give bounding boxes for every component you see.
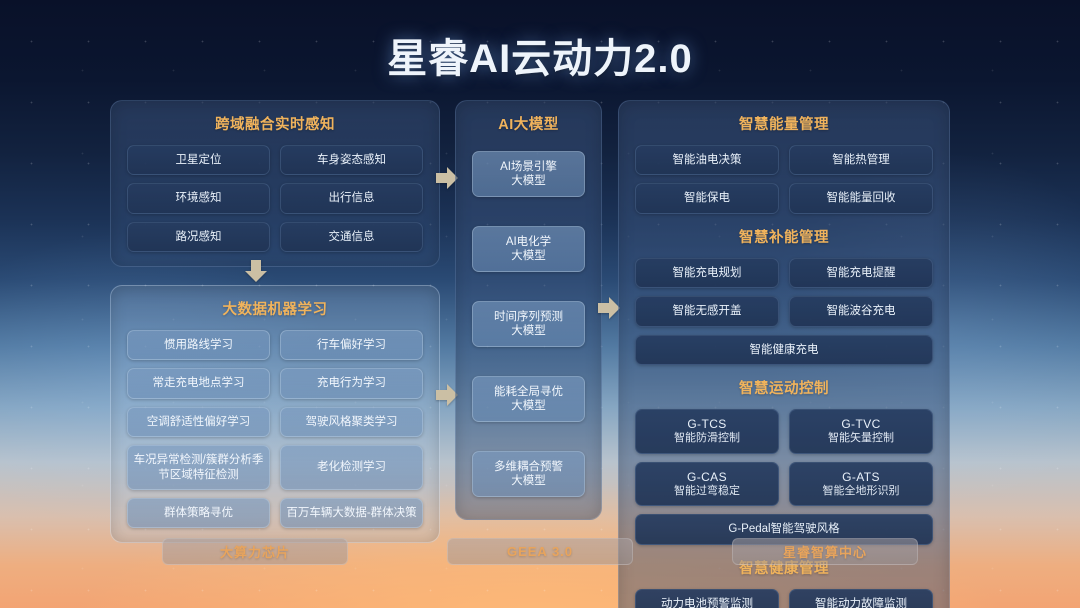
bigdata-item[interactable]: 老化检测学习 <box>280 445 423 490</box>
applications-item-label: 智能矢量控制 <box>828 432 894 446</box>
panel-applications: 智慧能量管理智能油电决策智能热管理智能保电智能能量回收智慧补能管理智能充电规划智… <box>618 100 950 608</box>
panel-perception: 跨域融合实时感知 卫星定位车身姿态感知环境感知出行信息路况感知交通信息 <box>110 100 440 267</box>
ai-model-item[interactable]: AI电化学大模型 <box>472 226 585 272</box>
applications-item[interactable]: G-TVC智能矢量控制 <box>789 409 933 454</box>
page-title: 星睿AI云动力2.0 <box>0 26 1080 84</box>
foundation-chip[interactable]: 大算力芯片 <box>162 538 348 565</box>
chip-line: 大模型 <box>511 399 546 413</box>
chip-line: 时间序列预测 <box>494 310 563 324</box>
applications-group-grid: 动力电池预警监测智能动力故障监测智能能耗监测系统智能化洗养护 <box>635 589 933 608</box>
applications-group-grid: 智能充电规划智能充电提醒智能无感开盖智能波谷充电 <box>635 258 933 327</box>
applications-item-code: G-TCS <box>687 417 726 432</box>
applications-item[interactable]: G-ATS智能全地形识别 <box>789 462 933 507</box>
ai-model-item[interactable]: 能耗全局寻优大模型 <box>472 376 585 422</box>
applications-item[interactable]: 智能波谷充电 <box>789 296 933 326</box>
applications-item[interactable]: 智能热管理 <box>789 145 933 175</box>
applications-item-full[interactable]: 智能健康充电 <box>635 335 933 365</box>
applications-item[interactable]: 智能保电 <box>635 183 779 213</box>
perception-item[interactable]: 出行信息 <box>280 183 423 213</box>
applications-item[interactable]: G-TCS智能防滑控制 <box>635 409 779 454</box>
applications-item[interactable]: 智能充电提醒 <box>789 258 933 288</box>
perception-item-grid: 卫星定位车身姿态感知环境感知出行信息路况感知交通信息 <box>127 145 423 252</box>
applications-item-code: G-ATS <box>842 470 880 485</box>
chip-line: AI场景引擎 <box>500 160 557 174</box>
applications-card: 智慧能量管理智能油电决策智能热管理智能保电智能能量回收智慧补能管理智能充电规划智… <box>618 100 950 608</box>
chip-line: 大模型 <box>511 324 546 338</box>
applications-item[interactable]: 智能无感开盖 <box>635 296 779 326</box>
applications-item[interactable]: 智能油电决策 <box>635 145 779 175</box>
chip-line: 大模型 <box>511 249 546 263</box>
panel-ai-models: AI大模型 AI场景引擎大模型AI电化学大模型时间序列预测大模型能耗全局寻优大模… <box>455 100 602 520</box>
ai-model-item[interactable]: AI场景引擎大模型 <box>472 151 585 197</box>
bigdata-item[interactable]: 行车偏好学习 <box>280 330 423 360</box>
applications-item-label: 智能防滑控制 <box>674 432 740 446</box>
perception-card: 跨域融合实时感知 卫星定位车身姿态感知环境感知出行信息路况感知交通信息 <box>110 100 440 267</box>
bigdata-item[interactable]: 驾驶风格聚类学习 <box>280 407 423 437</box>
chip-line: 大模型 <box>511 174 546 188</box>
perception-item[interactable]: 环境感知 <box>127 183 270 213</box>
bigdata-item[interactable]: 充电行为学习 <box>280 368 423 398</box>
applications-item[interactable]: G-CAS智能过弯稳定 <box>635 462 779 507</box>
applications-group-fullrow: 智能健康充电 <box>635 335 933 365</box>
ai-title: AI大模型 <box>472 113 585 134</box>
chip-line: 多维耦合预警 <box>494 460 563 474</box>
perception-item[interactable]: 卫星定位 <box>127 145 270 175</box>
perception-item[interactable]: 车身姿态感知 <box>280 145 423 175</box>
applications-item[interactable]: 智能动力故障监测 <box>789 589 933 608</box>
bigdata-item[interactable]: 群体策略寻优 <box>127 498 270 528</box>
chip-line: 大模型 <box>511 474 546 488</box>
foundation-compute-center[interactable]: 星睿智算中心 <box>732 538 918 565</box>
applications-item[interactable]: 智能能量回收 <box>789 183 933 213</box>
applications-item[interactable]: 智能充电规划 <box>635 258 779 288</box>
bigdata-item[interactable]: 车况异常检测/簇群分析季节区域特征检测 <box>127 445 270 490</box>
bigdata-title: 大数据机器学习 <box>127 298 423 319</box>
bigdata-item-grid: 惯用路线学习行车偏好学习常走充电地点学习充电行为学习空调舒适性偏好学习驾驶风格聚… <box>127 330 423 528</box>
bigdata-item[interactable]: 百万车辆大数据-群体决策 <box>280 498 423 528</box>
applications-item-label: 智能全地形识别 <box>823 485 900 499</box>
foundation-geea[interactable]: GEEA 3.0 <box>447 538 633 565</box>
applications-group-grid: G-TCS智能防滑控制G-TVC智能矢量控制G-CAS智能过弯稳定G-ATS智能… <box>635 409 933 507</box>
chip-line: AI电化学 <box>506 235 551 249</box>
applications-group-grid: 智能油电决策智能热管理智能保电智能能量回收 <box>635 145 933 214</box>
perception-item[interactable]: 路况感知 <box>127 222 270 252</box>
bigdata-item[interactable]: 常走充电地点学习 <box>127 368 270 398</box>
applications-item[interactable]: 动力电池预警监测 <box>635 589 779 608</box>
applications-item-label: 智能过弯稳定 <box>674 485 740 499</box>
bigdata-item[interactable]: 惯用路线学习 <box>127 330 270 360</box>
applications-group-title: 智慧能量管理 <box>635 113 933 134</box>
perception-title: 跨域融合实时感知 <box>127 113 423 134</box>
applications-item-code: G-TVC <box>841 417 880 432</box>
panel-bigdata: 大数据机器学习 惯用路线学习行车偏好学习常走充电地点学习充电行为学习空调舒适性偏… <box>110 285 440 543</box>
applications-group-title: 智慧运动控制 <box>635 377 933 398</box>
ai-card: AI大模型 AI场景引擎大模型AI电化学大模型时间序列预测大模型能耗全局寻优大模… <box>455 100 602 520</box>
slide-canvas: 星睿AI云动力2.0 跨域融合实时感知 卫星定位车身姿态感知环境感知出行信息路况… <box>0 0 1080 608</box>
ai-model-item[interactable]: 时间序列预测大模型 <box>472 301 585 347</box>
applications-group-title: 智慧补能管理 <box>635 226 933 247</box>
perception-item[interactable]: 交通信息 <box>280 222 423 252</box>
bigdata-card: 大数据机器学习 惯用路线学习行车偏好学习常走充电地点学习充电行为学习空调舒适性偏… <box>110 285 440 543</box>
ai-model-item[interactable]: 多维耦合预警大模型 <box>472 451 585 497</box>
ai-item-list: AI场景引擎大模型AI电化学大模型时间序列预测大模型能耗全局寻优大模型多维耦合预… <box>472 145 585 505</box>
chip-line: 能耗全局寻优 <box>494 385 563 399</box>
bigdata-item[interactable]: 空调舒适性偏好学习 <box>127 407 270 437</box>
applications-item-code: G-CAS <box>687 470 727 485</box>
